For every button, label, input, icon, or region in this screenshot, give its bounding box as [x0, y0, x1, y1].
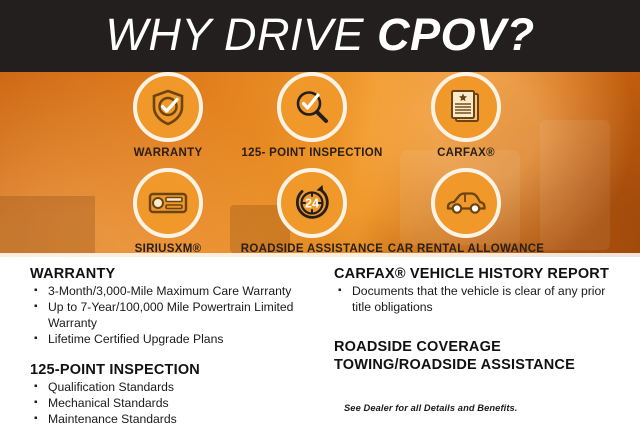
page-title-bold: CPOV?: [377, 9, 535, 60]
cpov-infographic: WHY DRIVE CPOV? WARRANTY: [0, 0, 640, 426]
list-item: Documents that the vehicle is clear of a…: [334, 284, 624, 315]
benefit-label: 125- POINT INSPECTION: [232, 147, 392, 159]
section-heading-inspection: 125-POINT INSPECTION: [30, 361, 330, 379]
clock-24-icon: 24: [277, 168, 347, 238]
details-panel: WARRANTY 3-Month/3,000-Mile Maximum Care…: [0, 257, 640, 426]
carfax-bullet-list: Documents that the vehicle is clear of a…: [334, 284, 624, 315]
svg-text:24: 24: [305, 197, 319, 211]
details-column-left: WARRANTY 3-Month/3,000-Mile Maximum Care…: [30, 265, 330, 426]
details-column-right: CARFAX® VEHICLE HISTORY REPORT Documents…: [334, 265, 624, 374]
benefit-item-roadside[interactable]: 24 ROADSIDE ASSISTANCE: [232, 168, 392, 255]
certificate-icon: [431, 72, 501, 142]
section-heading-carfax: CARFAX® VEHICLE HISTORY REPORT: [334, 265, 624, 283]
list-item: Maintenance Standards: [30, 412, 330, 426]
benefit-label: WARRANTY: [88, 147, 248, 159]
list-item: 3-Month/3,000-Mile Maximum Care Warranty: [30, 284, 330, 300]
page-title-light: WHY DRIVE: [105, 9, 377, 60]
disclaimer-text: See Dealer for all Details and Benefits.: [344, 403, 517, 413]
list-item: Up to 7-Year/100,000 Mile Powertrain Lim…: [30, 300, 330, 331]
list-item: Mechanical Standards: [30, 396, 330, 412]
benefit-item-car-rental[interactable]: CAR RENTAL ALLOWANCE: [386, 168, 546, 255]
list-item: Lifetime Certified Upgrade Plans: [30, 332, 330, 348]
magnifier-check-icon: [277, 72, 347, 142]
benefit-label: CARFAX®: [386, 147, 546, 159]
benefit-item-inspection[interactable]: 125- POINT INSPECTION: [232, 72, 392, 159]
section-heading-roadside-line2: TOWING/ROADSIDE ASSISTANCE: [334, 356, 624, 374]
list-item: Qualification Standards: [30, 380, 330, 396]
benefit-item-warranty[interactable]: WARRANTY: [88, 72, 248, 159]
car-side-icon: [431, 168, 501, 238]
car-stereo-icon: [133, 168, 203, 238]
spacer: [334, 316, 624, 338]
section-heading-roadside-line1: ROADSIDE COVERAGE: [334, 338, 624, 356]
benefit-icon-grid: WARRANTY 125- POINT INSPECTION: [0, 66, 640, 256]
benefit-item-siriusxm[interactable]: SIRIUSXM®: [88, 168, 248, 255]
header-banner: WHY DRIVE CPOV?: [0, 0, 640, 72]
shield-check-icon: [133, 72, 203, 142]
spacer: [30, 348, 330, 361]
page-title: WHY DRIVE CPOV?: [0, 6, 640, 64]
inspection-bullet-list: Qualification Standards Mechanical Stand…: [30, 380, 330, 426]
warranty-bullet-list: 3-Month/3,000-Mile Maximum Care Warranty…: [30, 284, 330, 347]
section-heading-warranty: WARRANTY: [30, 265, 330, 283]
benefit-item-carfax[interactable]: CARFAX®: [386, 72, 546, 159]
